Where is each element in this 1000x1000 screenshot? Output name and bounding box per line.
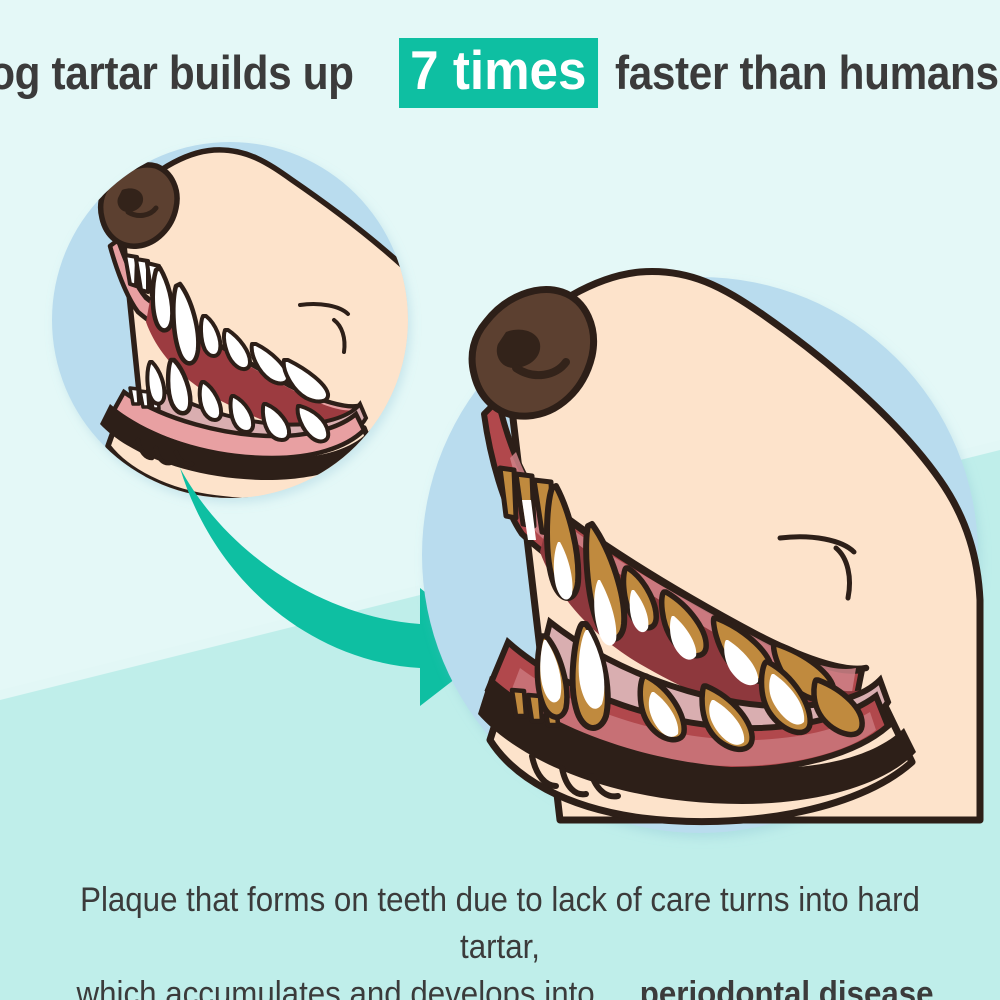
caption: Plaque that forms on teeth due to lack o… [0,877,1000,1000]
caption-line-1-text: Plaque that forms on teeth due to lack o… [40,877,960,971]
tooth-lower-incisor-tartar-1 [512,690,526,716]
caption-line-1: Plaque that forms on teeth due to lack o… [0,877,1000,971]
headline-highlight: 7 times [399,38,598,108]
headline-after: faster than humans [615,45,999,100]
headline: Dog tartar builds up 7 times faster than… [0,38,1000,108]
caption-line-2: which accumulates and develops into peri… [0,971,1000,1000]
illustration-canvas [0,0,1000,1000]
headline-before: Dog tartar builds up [0,45,353,100]
infographic-canvas: Dog tartar builds up 7 times faster than… [0,0,1000,1000]
caption-line-2-thin: which accumulates and develops into [77,971,595,1000]
caption-line-2-bold: periodontal disease [639,971,933,1000]
tooth-lower-incisor-1 [130,388,139,404]
